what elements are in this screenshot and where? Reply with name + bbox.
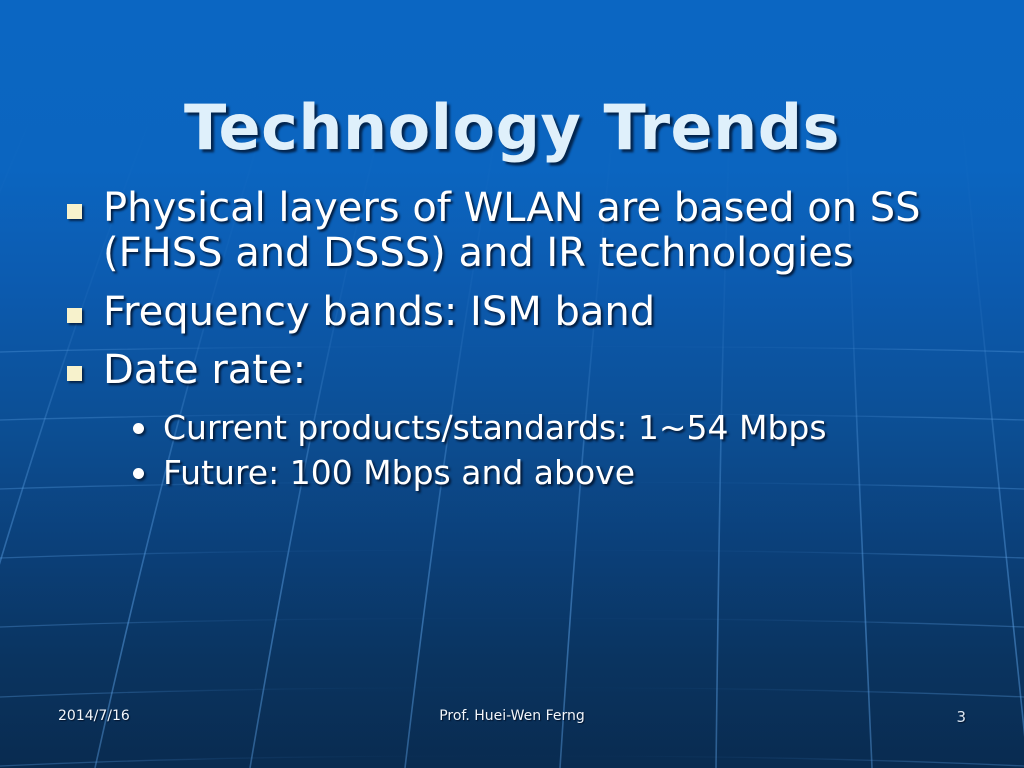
bullet-item-level2: Current products/standards: 1~54 Mbps xyxy=(58,407,988,449)
bullet-text: Frequency bands: ISM band xyxy=(103,289,655,335)
bullet-item-level1: Physical layers of WLAN are based on SS … xyxy=(58,186,988,276)
footer-page-number: 3 xyxy=(956,708,966,726)
square-bullet-icon xyxy=(67,308,82,323)
dot-bullet-icon xyxy=(133,423,144,434)
slide-title: Technology Trends xyxy=(0,94,1024,162)
bullet-item-level2: Future: 100 Mbps and above xyxy=(58,452,988,494)
slide-body: Physical layers of WLAN are based on SS … xyxy=(58,186,988,498)
bullet-item-level1: Date rate: xyxy=(58,348,988,393)
bullet-text: Current products/standards: 1~54 Mbps xyxy=(163,408,827,447)
bullet-text: Future: 100 Mbps and above xyxy=(163,453,635,492)
footer-author: Prof. Huei-Wen Ferng xyxy=(0,708,1024,724)
slide-footer: 2014/7/16 Prof. Huei-Wen Ferng 3 xyxy=(0,708,1024,728)
bullet-text: Physical layers of WLAN are based on SS … xyxy=(103,185,921,276)
dot-bullet-icon xyxy=(133,468,144,479)
square-bullet-icon xyxy=(67,204,82,219)
presentation-slide: Technology Trends Physical layers of WLA… xyxy=(0,0,1024,768)
bullet-item-level1: Frequency bands: ISM band xyxy=(58,290,988,335)
square-bullet-icon xyxy=(67,366,82,381)
bullet-text: Date rate: xyxy=(103,347,306,393)
